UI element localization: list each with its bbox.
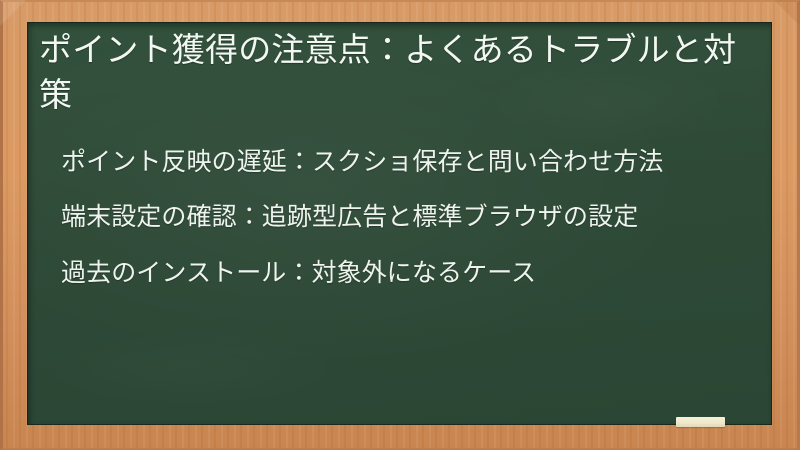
bullet-list: ポイント反映の遅延：スクショ保存と問い合わせ方法 端末設定の確認：追跡型広告と標…	[33, 144, 748, 291]
blackboard-slide: ポイント獲得の注意点：よくあるトラブルと対策 ポイント反映の遅延：スクショ保存と…	[0, 0, 800, 450]
bullet-item-1: ポイント反映の遅延：スクショ保存と問い合わせ方法	[61, 144, 734, 180]
slide-title: ポイント獲得の注意点：よくあるトラブルと対策	[33, 28, 748, 118]
chalkboard-surface: ポイント獲得の注意点：よくあるトラブルと対策 ポイント反映の遅延：スクショ保存と…	[27, 22, 772, 425]
chalk-stick-icon	[676, 417, 725, 427]
bullet-item-2: 端末設定の確認：追跡型広告と標準ブラウザの設定	[61, 199, 734, 235]
bullet-item-3: 過去のインストール：対象外になるケース	[61, 255, 734, 291]
board-content: ポイント獲得の注意点：よくあるトラブルと対策 ポイント反映の遅延：スクショ保存と…	[27, 22, 772, 290]
